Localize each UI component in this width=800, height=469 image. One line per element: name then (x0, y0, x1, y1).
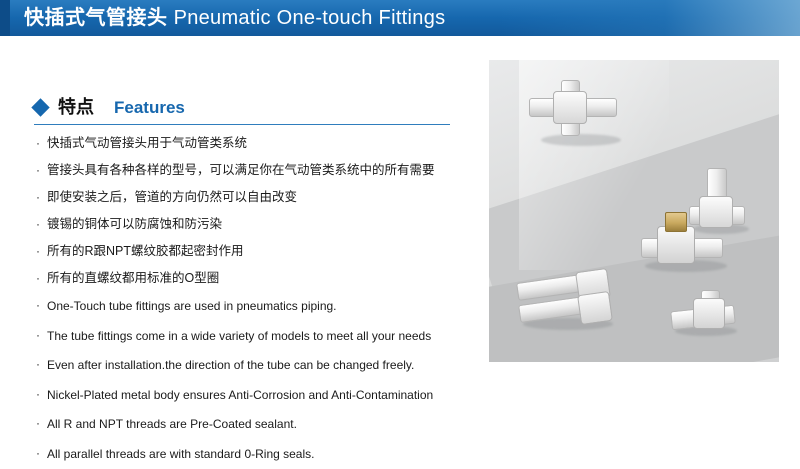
list-item-label: 即使安装之后，管道的方向仍然可以自由改变 (47, 184, 476, 211)
bullet-marker: · (36, 410, 47, 437)
list-item: · 快插式气动管接头用于气动管类系统 (36, 130, 476, 157)
list-item-label: 镀锡的铜体可以防腐蚀和防污染 (47, 211, 476, 238)
page-title-en: Pneumatic One-touch Fittings (174, 7, 446, 29)
list-item-label: One-Touch tube fittings are used in pneu… (47, 292, 476, 322)
elbow-fitting-body (699, 196, 733, 228)
bullet-marker: · (36, 351, 47, 378)
page-title: 快插式气管接头 Pneumatic One-touch Fittings (24, 5, 445, 31)
list-item-label: All parallel threads are with standard 0… (47, 440, 476, 469)
list-item: · 所有的R跟NPT螺纹胶都起密封作用 (36, 238, 476, 265)
bullet-marker: · (36, 292, 47, 319)
list-item-label: 管接头具有各种各样的型号，可以满足你在气动管类系统中的所有需要 (47, 157, 476, 184)
list-item: · The tube fittings come in a wide varie… (36, 322, 476, 352)
heading-divider (34, 124, 450, 125)
bullet-marker: · (36, 130, 47, 157)
header-gradient-overlay (500, 0, 800, 36)
list-item-label: The tube fittings come in a wide variety… (47, 322, 476, 352)
tee-fitting-brass-port (665, 212, 687, 232)
bullet-marker: · (36, 322, 47, 349)
bullet-marker: · (36, 440, 47, 467)
header-accent-bar (0, 0, 10, 36)
list-item-label: 所有的直螺纹都用标准的O型圈 (47, 265, 476, 292)
features-heading-en: Features (114, 96, 185, 120)
list-item-label: Nickel-Plated metal body ensures Anti-Co… (47, 381, 476, 411)
list-item: · 管接头具有各种各样的型号，可以满足你在气动管类系统中的所有需要 (36, 157, 476, 184)
list-item: · Even after installation.the direction … (36, 351, 476, 381)
bullet-marker: · (36, 265, 47, 292)
list-item: · 即使安装之后，管道的方向仍然可以自由改变 (36, 184, 476, 211)
bullet-marker: · (36, 157, 47, 184)
product-photo (489, 60, 779, 362)
list-item: · 镀锡的铜体可以防腐蚀和防污染 (36, 211, 476, 238)
list-item: · One-Touch tube fittings are used in pn… (36, 292, 476, 322)
list-item-label: Even after installation.the direction of… (47, 351, 476, 381)
fitting-shadow (541, 134, 621, 146)
straight-fitting-body-lower (577, 291, 613, 325)
elbow-fitting-lower-body (693, 298, 725, 329)
page-header-banner: 快插式气管接头 Pneumatic One-touch Fittings (0, 0, 800, 36)
features-heading-cn: 特点 (58, 95, 94, 119)
list-item: · All R and NPT threads are Pre-Coated s… (36, 410, 476, 440)
list-item: · Nickel-Plated metal body ensures Anti-… (36, 381, 476, 411)
bullet-marker: · (36, 184, 47, 211)
list-item-label: 所有的R跟NPT螺纹胶都起密封作用 (47, 238, 476, 265)
features-list: · 快插式气动管接头用于气动管类系统 · 管接头具有各种各样的型号，可以满足你在… (36, 130, 476, 469)
list-item: · 所有的直螺纹都用标准的O型圈 (36, 265, 476, 292)
bullet-marker: · (36, 381, 47, 408)
bullet-marker: · (36, 238, 47, 265)
cross-fitting-body (553, 91, 587, 124)
diamond-icon (31, 98, 49, 116)
list-item-label: 快插式气动管接头用于气动管类系统 (47, 130, 476, 157)
page-title-cn: 快插式气管接头 (24, 7, 168, 29)
list-item: · All parallel threads are with standard… (36, 440, 476, 469)
list-item-label: All R and NPT threads are Pre-Coated sea… (47, 410, 476, 440)
bullet-marker: · (36, 211, 47, 238)
features-heading: 特点 Features (34, 95, 334, 121)
